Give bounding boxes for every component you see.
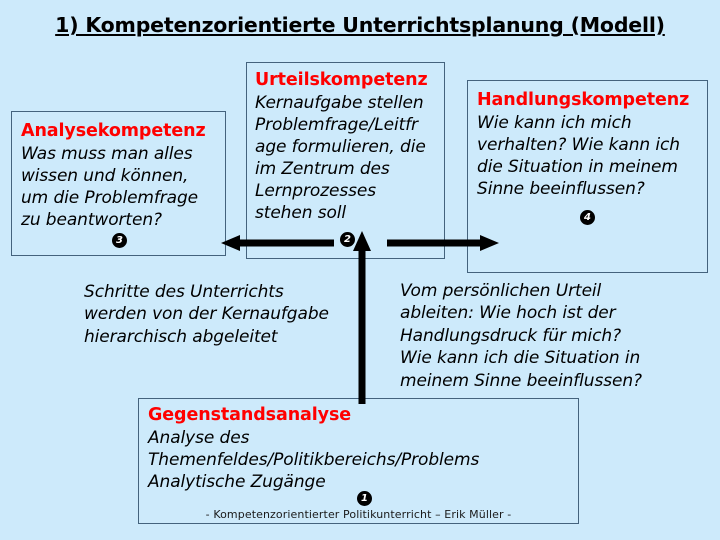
note-vom-persoenlichen-urteil: Vom persönlichen Urteil ableiten: Wie ho… [400, 280, 650, 392]
footer-credit: - Kompetenzorientierter Politikunterrich… [138, 508, 579, 521]
box-urteilskompetenz[interactable]: Urteilskompetenz Kernaufgabe stellen Pro… [246, 62, 445, 259]
box-gegenstandsanalyse-body: Analyse des Themenfeldes/Politikbereichs… [148, 427, 572, 493]
marker-1: 1 [357, 491, 372, 506]
box-handlungskompetenz[interactable]: Handlungskompetenz Wie kann ich mich ver… [467, 80, 708, 273]
box-analysekompetenz-body: Was muss man alles wissen und können, um… [21, 143, 218, 231]
box-analysekompetenz-heading: Analysekompetenz [21, 120, 218, 143]
slide-canvas: 1) Kompetenzorientierte Unterrichtsplanu… [0, 0, 720, 540]
marker-3: 3 [112, 233, 127, 248]
box-handlungskompetenz-body: Wie kann ich mich verhalten? Wie kann ic… [477, 112, 701, 200]
box-gegenstandsanalyse[interactable]: Gegenstandsanalyse Analyse des Themenfel… [138, 398, 579, 524]
page-title: 1) Kompetenzorientierte Unterrichtsplanu… [0, 13, 720, 37]
box-urteilskompetenz-body: Kernaufgabe stellen Problemfrage/Leitfr … [255, 92, 438, 225]
note-schritte-des-unterrichts: Schritte des Unterrichts werden von der … [84, 281, 329, 348]
box-gegenstandsanalyse-heading: Gegenstandsanalyse [148, 404, 572, 427]
marker-4: 4 [580, 210, 595, 225]
box-handlungskompetenz-heading: Handlungskompetenz [477, 89, 701, 112]
marker-2: 2 [340, 232, 355, 247]
box-urteilskompetenz-heading: Urteilskompetenz [255, 69, 438, 92]
